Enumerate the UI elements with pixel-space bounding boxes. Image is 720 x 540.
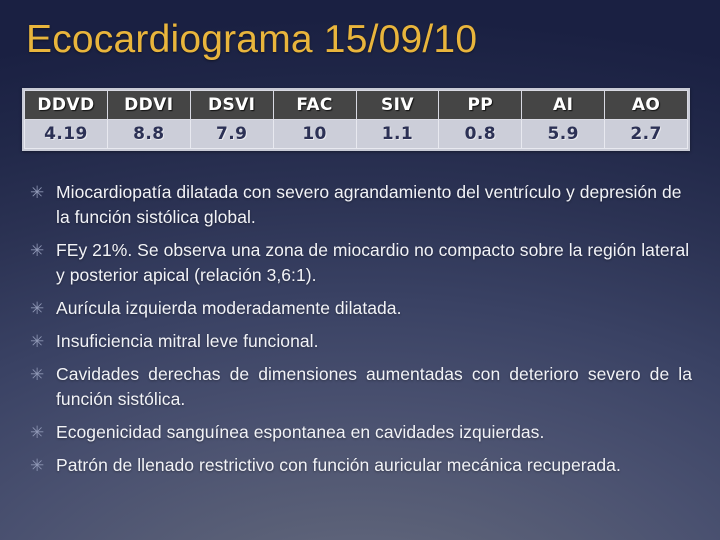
asterisk-bullet-icon: ✳ [28, 362, 56, 387]
table-column-header-dsvi: DSVI [190, 91, 273, 120]
list-item: ✳ FEy 21%. Se observa una zona de miocar… [28, 238, 692, 288]
asterisk-bullet-icon: ✳ [28, 296, 56, 321]
table-cell-dsvi: 7.9 [190, 120, 273, 149]
table-column-header-fac: FAC [273, 91, 356, 120]
asterisk-bullet-icon: ✳ [28, 420, 56, 445]
list-item: ✳ Ecogenicidad sanguínea espontanea en c… [28, 420, 692, 445]
measurements-table-container: DDVD DDVI DSVI FAC SIV PP AI AO 4.19 8.8… [22, 88, 690, 151]
list-item-text: Insuficiencia mitral leve funcional. [56, 329, 692, 354]
list-item: ✳ Aurícula izquierda moderadamente dilat… [28, 296, 692, 321]
table-cell-fac: 10 [273, 120, 356, 149]
list-item-text: Miocardiopatía dilatada con severo agran… [56, 180, 692, 230]
table-column-header-ddvd: DDVD [25, 91, 108, 120]
list-item: ✳ Cavidades derechas de dimensiones aume… [28, 362, 692, 412]
asterisk-bullet-icon: ✳ [28, 329, 56, 354]
list-item-text: FEy 21%. Se observa una zona de miocardi… [56, 238, 692, 288]
page-title: Ecocardiograma 15/09/10 [26, 18, 477, 62]
slide-canvas: Ecocardiograma 15/09/10 DDVD DDVI DSVI F… [0, 0, 720, 540]
table-cell-ao: 2.7 [605, 120, 688, 149]
list-item: ✳ Patrón de llenado restrictivo con func… [28, 453, 692, 478]
table-header: DDVD DDVI DSVI FAC SIV PP AI AO [25, 91, 688, 120]
table-column-header-siv: SIV [356, 91, 439, 120]
asterisk-bullet-icon: ✳ [28, 238, 56, 263]
table-column-header-ao: AO [605, 91, 688, 120]
table-column-header-ddvi: DDVI [107, 91, 190, 120]
asterisk-bullet-icon: ✳ [28, 180, 56, 205]
list-item-text: Patrón de llenado restrictivo con funció… [56, 453, 692, 478]
list-item: ✳ Insuficiencia mitral leve funcional. [28, 329, 692, 354]
measurements-table: DDVD DDVI DSVI FAC SIV PP AI AO 4.19 8.8… [24, 90, 688, 149]
table-cell-siv: 1.1 [356, 120, 439, 149]
table-cell-ddvd: 4.19 [25, 120, 108, 149]
table-cell-ai: 5.9 [522, 120, 605, 149]
table-column-header-ai: AI [522, 91, 605, 120]
table-body: 4.19 8.8 7.9 10 1.1 0.8 5.9 2.7 [25, 120, 688, 149]
list-item: ✳ Miocardiopatía dilatada con severo agr… [28, 180, 692, 230]
findings-list: ✳ Miocardiopatía dilatada con severo agr… [28, 180, 692, 486]
list-item-text: Ecogenicidad sanguínea espontanea en cav… [56, 420, 692, 445]
table-cell-ddvi: 8.8 [107, 120, 190, 149]
table-cell-pp: 0.8 [439, 120, 522, 149]
table-header-row: DDVD DDVI DSVI FAC SIV PP AI AO [25, 91, 688, 120]
asterisk-bullet-icon: ✳ [28, 453, 56, 478]
table-column-header-pp: PP [439, 91, 522, 120]
table-row: 4.19 8.8 7.9 10 1.1 0.8 5.9 2.7 [25, 120, 688, 149]
list-item-text: Cavidades derechas de dimensiones aument… [56, 362, 692, 412]
list-item-text: Aurícula izquierda moderadamente dilatad… [56, 296, 692, 321]
